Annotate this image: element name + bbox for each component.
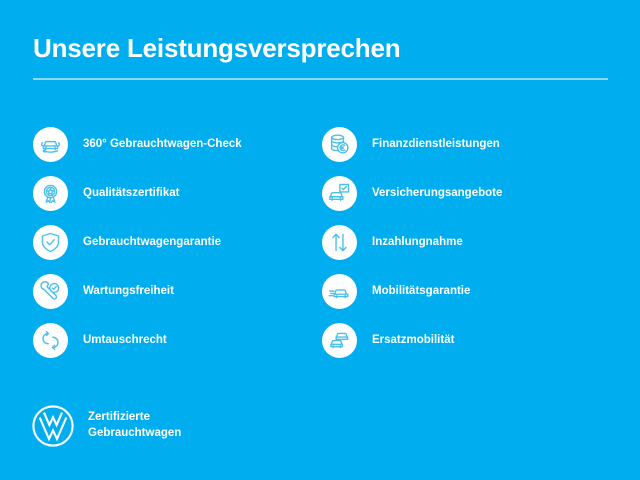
shield-check-icon (33, 225, 68, 260)
quality-seal-rosette-icon (33, 176, 68, 211)
benefit-label: Qualitätszertifikat (83, 187, 180, 201)
benefit-item[interactable]: Inzahlungnahme (322, 225, 611, 260)
exchange-arrows-icon (33, 323, 68, 358)
benefit-label: 360° Gebrauchtwagen-Check (83, 138, 242, 152)
header: Unsere Leistungsversprechen (33, 34, 608, 80)
footer-line-1: Zertifizierte (88, 410, 181, 426)
slide-root: Unsere Leistungsversprechen (0, 0, 640, 480)
benefit-label: Versicherungsangebote (372, 187, 502, 201)
benefit-item[interactable]: Umtauschrecht (33, 323, 322, 358)
volkswagen-logo-icon (31, 404, 75, 448)
footer-text: Zertifizierte Gebrauchtwagen (88, 410, 181, 441)
benefit-label: Finanzdienstleistungen (372, 138, 500, 152)
benefit-item[interactable]: 360° Gebrauchtwagen-Check (33, 127, 322, 162)
benefit-item[interactable]: Gebrauchtwagengarantie (33, 225, 322, 260)
benefit-item[interactable]: Qualitätszertifikat (33, 176, 322, 211)
benefit-label: Gebrauchtwagengarantie (83, 236, 221, 250)
coins-euro-icon (322, 127, 357, 162)
benefits-column-left: 360° Gebrauchtwagen-Check Qualitätszerti… (33, 127, 322, 358)
benefit-label: Mobilitätsgarantie (372, 285, 470, 299)
footer-line-2: Gebrauchtwagen (88, 426, 181, 442)
footer-logo-lockup: Zertifizierte Gebrauchtwagen (31, 404, 181, 448)
benefit-label: Inzahlungnahme (372, 236, 463, 250)
benefit-item[interactable]: Ersatzmobilität (322, 323, 611, 358)
benefit-label: Umtauschrecht (83, 334, 167, 348)
title-divider (33, 78, 608, 80)
two-cars-icon (322, 323, 357, 358)
benefit-label: Ersatzmobilität (372, 334, 454, 348)
benefit-item[interactable]: Mobilitätsgarantie (322, 274, 611, 309)
arrows-up-down-icon (322, 225, 357, 260)
benefits-column-right: Finanzdienstleistungen Versicherungsang (322, 127, 611, 358)
benefits-grid: 360° Gebrauchtwagen-Check Qualitätszerti… (33, 127, 611, 358)
benefit-item[interactable]: Versicherungsangebote (322, 176, 611, 211)
benefit-label: Wartungsfreiheit (83, 285, 174, 299)
car-360-check-icon (33, 127, 68, 162)
car-document-check-icon (322, 176, 357, 211)
page-title: Unsere Leistungsversprechen (33, 34, 608, 63)
car-motion-icon (322, 274, 357, 309)
benefit-item[interactable]: Wartungsfreiheit (33, 274, 322, 309)
wrench-check-icon (33, 274, 68, 309)
benefit-item[interactable]: Finanzdienstleistungen (322, 127, 611, 162)
